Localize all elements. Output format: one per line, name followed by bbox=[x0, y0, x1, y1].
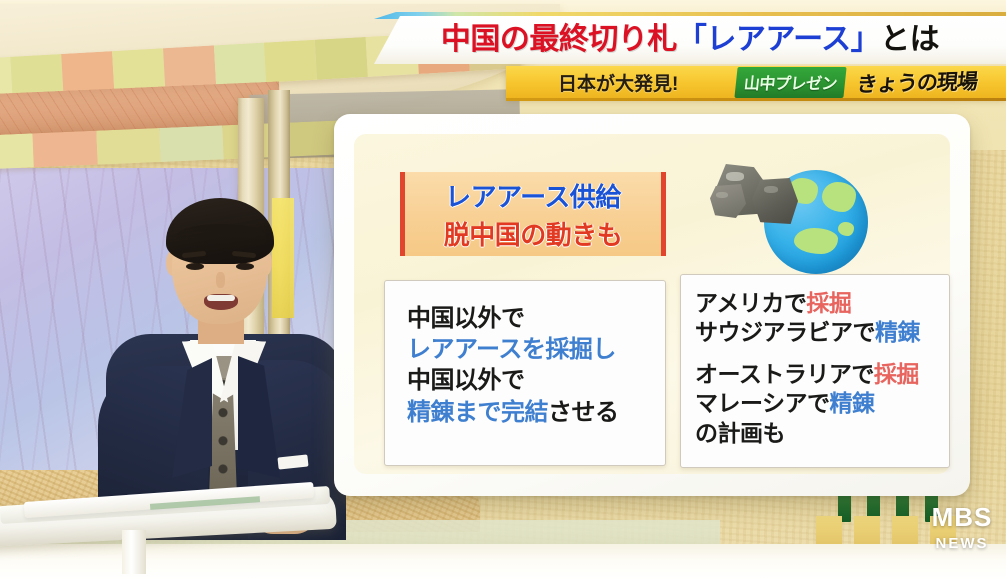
headline-text: 中国の最終切り札「レアアース」とは bbox=[441, 25, 939, 55]
left-card-line-4: 精錬まで完結させる bbox=[407, 397, 619, 428]
headline-part3: とは bbox=[880, 23, 939, 56]
right-card-block-gap bbox=[695, 348, 920, 360]
left-card-line-2: レアアースを採掘し bbox=[407, 334, 619, 365]
right-card-block1-line-2: サウジアラビアで精錬 bbox=[695, 318, 920, 347]
presenter-nose bbox=[216, 272, 225, 288]
right-card-block2-line-2: マレーシアで精錬 bbox=[695, 389, 920, 418]
illustration-group bbox=[706, 156, 886, 276]
topic-panel-inner: レアアース供給 脱中国の動きも bbox=[354, 134, 950, 474]
headline-part2: 「レアアース」 bbox=[677, 23, 880, 56]
subtitle-bar-underline bbox=[506, 98, 1006, 101]
right-card-block1-line-1: アメリカで採掘 bbox=[695, 289, 920, 318]
headline-part1: 中国の最終切り札 bbox=[441, 23, 677, 56]
left-card-lines: 中国以外で レアアースを採掘し 中国以外で 精錬まで完結させる bbox=[407, 303, 619, 428]
left-card-line-3: 中国以外で bbox=[407, 365, 619, 396]
title-bar: 中国の最終切り札「レアアース」とは bbox=[374, 16, 1006, 64]
station-logo-name: MBS bbox=[928, 504, 996, 530]
studio-floor bbox=[0, 544, 1006, 580]
subtitle-bar: 日本が大発見! 山中プレゼン きょうの現場 bbox=[506, 66, 1006, 98]
subheadline-text: 日本が大発見! bbox=[558, 69, 678, 96]
station-logo: MBS NEWS bbox=[928, 504, 996, 562]
panel-heading-line1: レアアース供給 bbox=[445, 177, 621, 214]
segment-badge: 山中プレゼン bbox=[735, 67, 847, 98]
broadcast-screenshot: レアアース供給 脱中国の動きも bbox=[0, 0, 1006, 580]
presenter-eye-left bbox=[186, 263, 204, 270]
left-card-line-1: 中国以外で bbox=[407, 303, 619, 334]
right-text-card: アメリカで採掘 サウジアラビアで精錬 オーストラリアで採掘 マレーシアで精錬 の… bbox=[680, 274, 950, 468]
topic-panel: レアアース供給 脱中国の動きも bbox=[334, 114, 970, 496]
right-card-block2-line-3: の計画も bbox=[695, 419, 920, 448]
left-text-card: 中国以外で レアアースを採掘し 中国以外で 精錬まで完結させる bbox=[384, 280, 666, 466]
panel-heading-line2: 脱中国の動きも bbox=[444, 215, 623, 252]
program-brand-logo: きょうの現場 bbox=[856, 65, 979, 98]
desk-leg bbox=[122, 530, 146, 574]
presenter-eye-right bbox=[236, 263, 254, 270]
station-logo-sub: NEWS bbox=[928, 530, 996, 557]
panel-heading: レアアース供給 脱中国の動きも bbox=[400, 172, 666, 256]
presenter-mouth bbox=[204, 294, 238, 310]
rare-earth-ore-rocks-icon bbox=[708, 156, 804, 234]
right-card-lines: アメリカで採掘 サウジアラビアで精錬 オーストラリアで採掘 マレーシアで精錬 の… bbox=[695, 289, 920, 448]
right-card-block2-line-1: オーストラリアで採掘 bbox=[695, 360, 920, 389]
